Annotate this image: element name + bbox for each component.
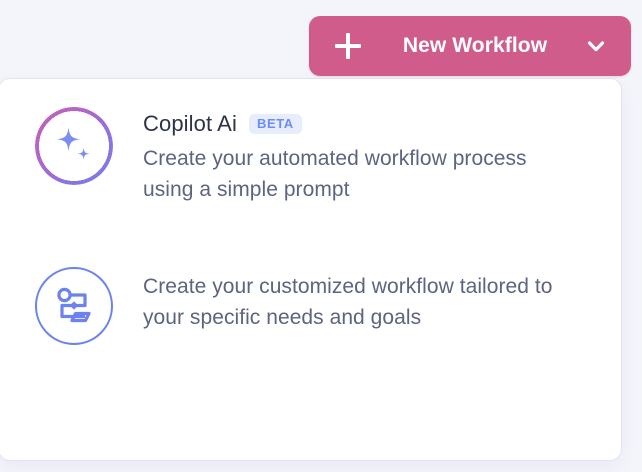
option-title: Copilot Ai [143, 111, 237, 137]
dropdown-option-copilot-ai[interactable]: Copilot Ai BETA Create your automated wo… [0, 107, 621, 205]
plus-icon [335, 33, 361, 59]
new-workflow-button-label: New Workflow [381, 34, 569, 58]
dropdown-option-custom-workflow[interactable]: Create your customized workflow tailored… [0, 267, 621, 345]
option-text-block: Copilot Ai BETA Create your automated wo… [143, 107, 597, 205]
new-workflow-dropdown-panel: Copilot Ai BETA Create your automated wo… [0, 78, 622, 461]
sparkle-ai-icon [35, 107, 113, 185]
chevron-down-icon[interactable] [583, 33, 609, 59]
option-title-line: Copilot Ai BETA [143, 111, 597, 137]
option-text-block: Create your customized workflow tailored… [143, 267, 597, 333]
status-badge: BETA [249, 114, 302, 134]
option-description: Create your automated workflow process u… [143, 143, 533, 205]
workflow-diagram-icon [35, 267, 113, 345]
new-workflow-button[interactable]: New Workflow [309, 16, 631, 76]
option-description: Create your customized workflow tailored… [143, 271, 553, 333]
